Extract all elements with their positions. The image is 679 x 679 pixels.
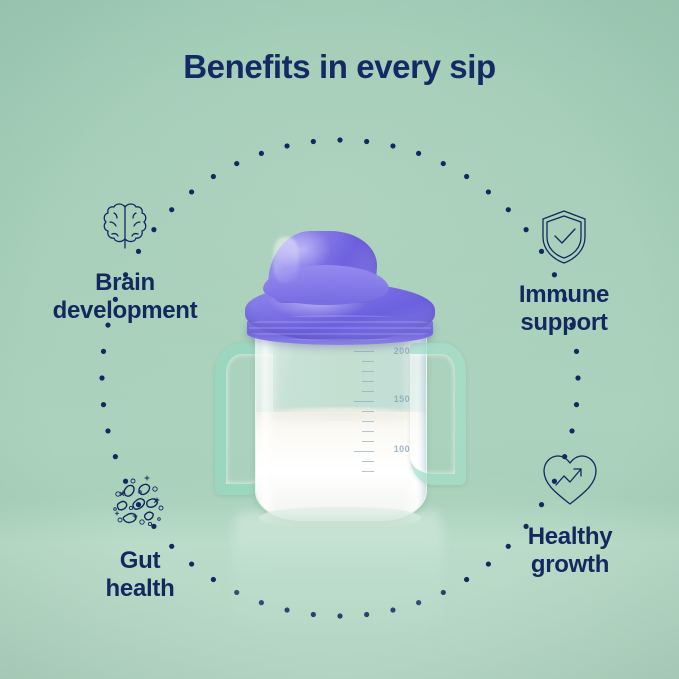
- ring-dot: [390, 607, 395, 612]
- ring-dot: [284, 143, 289, 148]
- ring-dot: [337, 613, 342, 618]
- ring-dot: [259, 600, 264, 605]
- page-title: Benefits in every sip: [0, 48, 679, 86]
- cup-reflection: [232, 512, 444, 640]
- ring-dot: [390, 143, 395, 148]
- brain-icon: [18, 198, 232, 259]
- ring-dot: [259, 151, 264, 156]
- ring-dot: [105, 428, 110, 433]
- promo-graphic: Benefits in every sip 200 150: [0, 0, 679, 679]
- ring-dot: [234, 161, 239, 166]
- benefit-label: Brain development: [53, 269, 198, 324]
- ring-dot: [575, 375, 580, 380]
- ring-dot: [284, 607, 289, 612]
- ring-dot: [311, 139, 316, 144]
- ring-dot: [113, 454, 118, 459]
- microbiome-icon: [46, 472, 234, 537]
- measurement-label-150: 150: [394, 394, 410, 404]
- benefit-label: Gut health: [106, 547, 175, 602]
- ring-dot: [364, 612, 369, 617]
- ring-dot: [486, 189, 491, 194]
- ring-dot: [416, 600, 421, 605]
- cup-body: 200 150 100: [255, 327, 427, 521]
- ring-dot: [189, 189, 194, 194]
- measurement-scale: 200 150 100: [348, 346, 410, 496]
- cup-base: [259, 507, 421, 529]
- ring-dot: [464, 577, 469, 582]
- ring-dot: [574, 402, 579, 407]
- ring-dot: [364, 139, 369, 144]
- benefit-label: Immune support: [519, 281, 609, 336]
- cup-lid-highlight: [273, 237, 299, 283]
- ring-dot: [211, 174, 216, 179]
- ring-dot: [441, 161, 446, 166]
- ring-dot: [416, 151, 421, 156]
- benefit-label: Healthy growth: [528, 523, 613, 578]
- benefit-immune-support: Immune support: [466, 208, 662, 337]
- ring-dot: [101, 349, 106, 354]
- cup-lid-ribs: [249, 315, 431, 341]
- ring-dot: [464, 174, 469, 179]
- heart-growth-icon: [470, 452, 670, 513]
- cup-handle-right: [410, 343, 466, 485]
- benefit-brain-development: Brain development: [18, 198, 232, 325]
- ring-dot: [234, 590, 239, 595]
- ring-dot: [574, 349, 579, 354]
- ring-dot: [101, 402, 106, 407]
- measurement-label-200: 200: [394, 346, 410, 356]
- sippy-cup: 200 150 100: [207, 225, 472, 530]
- benefit-gut-health: Gut health: [46, 472, 234, 603]
- benefit-healthy-growth: Healthy growth: [470, 452, 670, 579]
- ring-dot: [441, 590, 446, 595]
- measurement-label-100: 100: [394, 444, 410, 454]
- ring-dot: [337, 137, 342, 142]
- ring-dot: [99, 375, 104, 380]
- ring-dot: [569, 428, 574, 433]
- shield-check-icon: [466, 208, 662, 271]
- ring-dot: [311, 612, 316, 617]
- cup-highlight-left: [262, 332, 278, 512]
